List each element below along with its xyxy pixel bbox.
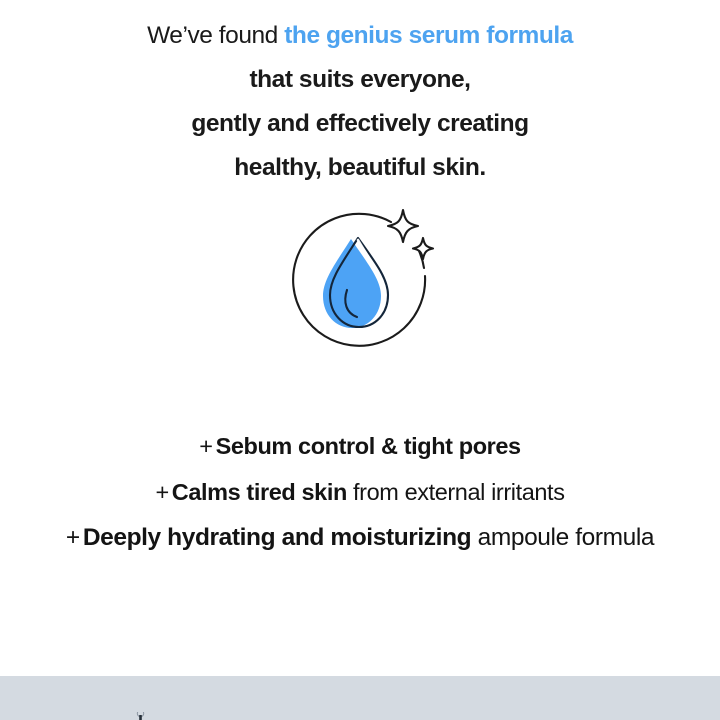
benefit-item-1-strong: Sebum control & tight pores [216,433,521,459]
water-droplet-sparkle-icon [283,198,443,363]
benefit-bullet-1: + [199,433,212,459]
headline-line-1-accent: the genius serum formula [284,22,573,49]
benefit-item-2: +Calms tired skin from external irritant… [0,469,720,515]
headline-line-2: that suits everyone, [0,58,720,102]
band-partial-mark-icon [134,712,147,720]
product-detail-page: with a lightweight glow, We’ve found the… [0,0,720,720]
headline-block: We’ve found the genius serum formula tha… [0,14,720,190]
benefit-item-2-strong: Calms tired skin [172,479,347,505]
bottom-section-band [0,676,720,720]
headline-line-4: healthy, beautiful skin. [0,146,720,190]
benefit-item-1: +Sebum control & tight pores [0,423,720,469]
clipped-previous-line: with a lightweight glow, [0,0,720,8]
clipped-previous-line-text: with a lightweight glow, [0,0,720,2]
benefit-item-3: +Deeply hydrating and moisturizing ampou… [0,515,720,561]
headline-line-1: We’ve found the genius serum formula [0,14,720,58]
benefit-bullet-3: + [66,524,80,551]
benefit-list: +Sebum control & tight pores +Calms tire… [0,423,720,561]
headline-line-3: gently and effectively creating [0,102,720,146]
headline-line-1-prefix: We’ve found [147,22,284,49]
benefit-item-2-light: from external irritants [347,479,565,505]
benefit-item-3-light: ampoule formula [471,524,654,551]
benefit-bullet-2: + [155,479,168,505]
benefit-item-3-strong: Deeply hydrating and moisturizing [83,524,471,551]
